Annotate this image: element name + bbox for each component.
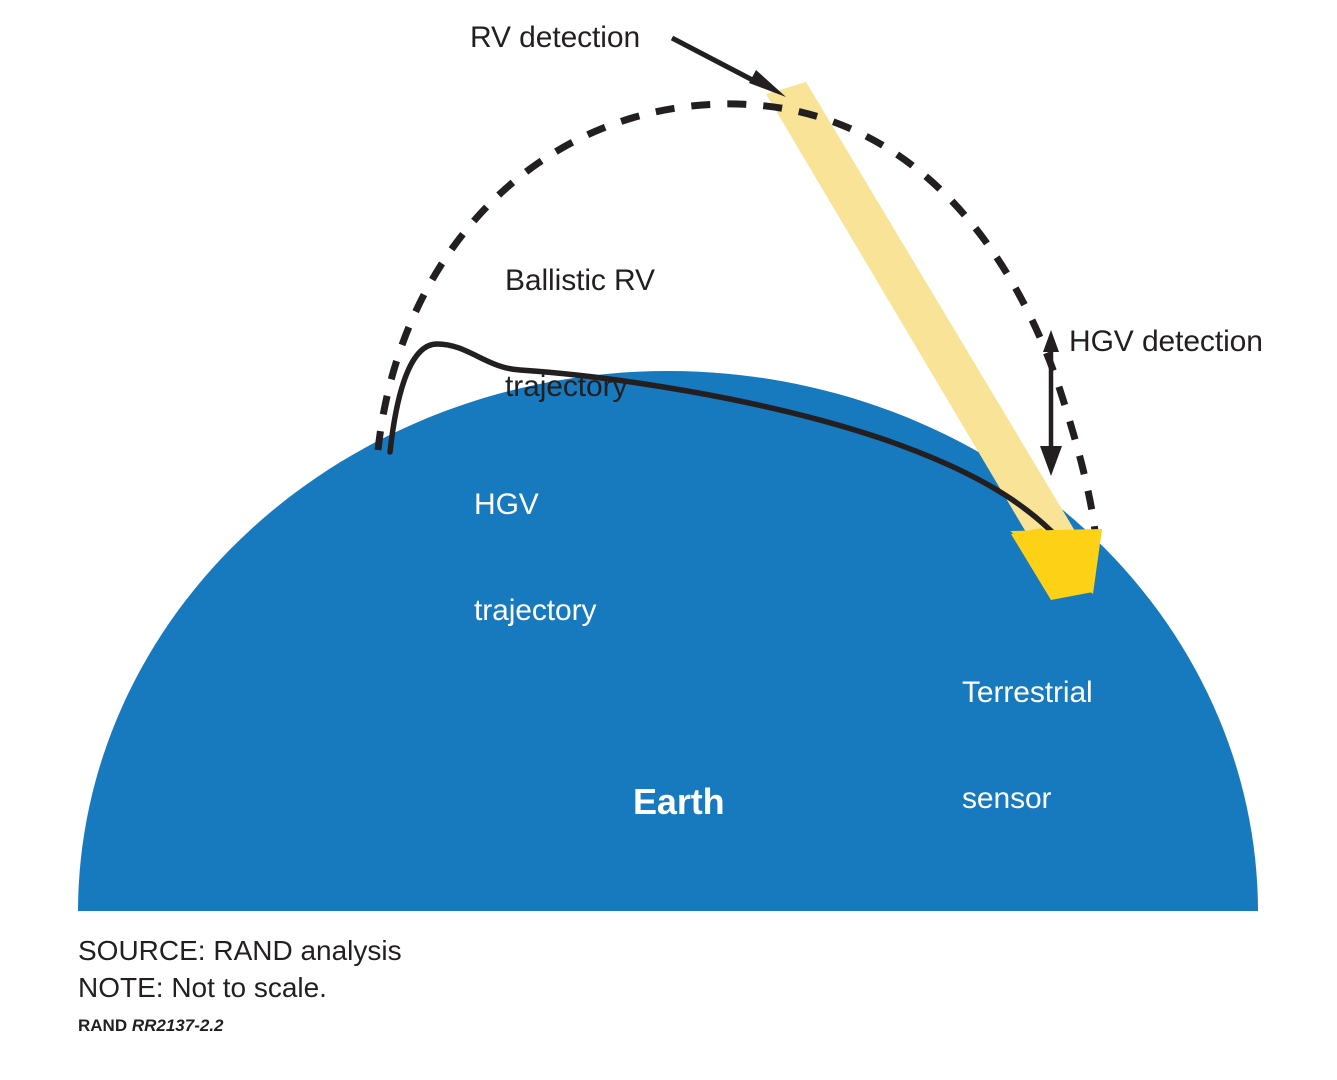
label-earth: Earth: [633, 781, 725, 823]
footer-source: SOURCE: RAND analysis: [78, 932, 978, 969]
hgv-detection-arrow: [1040, 330, 1062, 476]
label-ballistic-line1: Ballistic RV: [505, 263, 655, 298]
label-terrestrial-line2: sensor: [962, 781, 1093, 816]
footer-credit-mark: RAND: [78, 1016, 127, 1035]
footer-credit: RAND RR2137-2.2: [78, 1015, 978, 1038]
label-hgv-traj-line1: HGV: [474, 487, 596, 522]
label-ballistic-line2: trajectory: [505, 369, 655, 404]
diagram-canvas: [0, 0, 1337, 1080]
label-hgv-trajectory: HGV trajectory: [474, 416, 596, 699]
footer-note: NOTE: Not to scale.: [78, 969, 978, 1006]
rv-detection-arrow: [672, 38, 786, 97]
label-terrestrial-line1: Terrestrial: [962, 675, 1093, 710]
footer-credit-id: RR2137-2.2: [132, 1016, 224, 1035]
label-hgv-detection: HGV detection: [1069, 324, 1263, 359]
figure-footer: SOURCE: RAND analysis NOTE: Not to scale…: [78, 932, 978, 1038]
label-hgv-traj-line2: trajectory: [474, 593, 596, 628]
figure-root: RV detection HGV detection Ballistic RV …: [0, 0, 1337, 1080]
label-terrestrial-sensor: Terrestrial sensor: [962, 604, 1093, 887]
label-rv-detection: RV detection: [470, 20, 640, 55]
